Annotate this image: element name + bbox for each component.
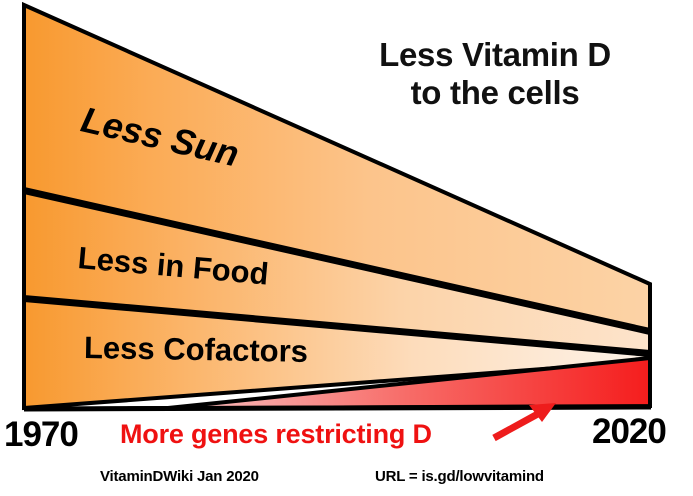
band-label-less-cofactors: Less Cofactors bbox=[84, 330, 309, 370]
axis-label-start-year: 1970 bbox=[4, 415, 78, 455]
genes-wedge-caption: More genes restricting D bbox=[120, 419, 432, 450]
infographic-canvas: Less Vitamin D to the cells Less Sun Les… bbox=[0, 0, 693, 496]
footer-url-label: URL = is.gd/lowvitamind bbox=[375, 468, 544, 485]
axis-label-end-year: 2020 bbox=[592, 412, 666, 452]
page-title: Less Vitamin D to the cells bbox=[330, 36, 660, 113]
footer-source-label: VitaminDWiki Jan 2020 bbox=[100, 468, 259, 485]
funnel-baseline bbox=[24, 407, 651, 409]
page-title-line1: Less Vitamin D bbox=[379, 36, 611, 73]
page-title-line2: to the cells bbox=[330, 74, 660, 112]
